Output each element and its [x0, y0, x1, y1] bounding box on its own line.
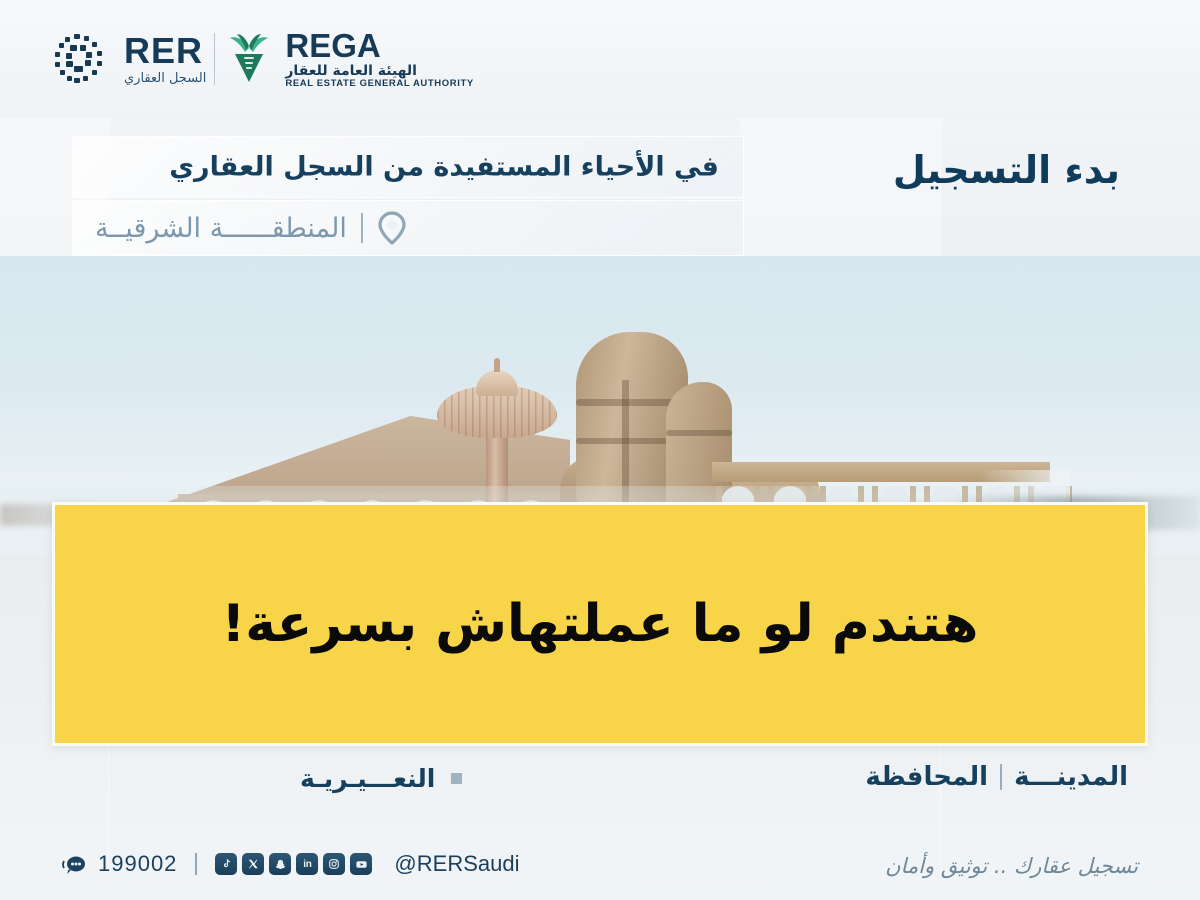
rer-logo: RER السجل العقاري — [52, 32, 206, 86]
rega-palm-logo-icon — [223, 32, 275, 86]
poster-canvas: RER السجل العقاري — [0, 0, 1200, 900]
location-labels: المدينـــة المحافظة — [865, 762, 1128, 792]
rega-logo: REGA الهيئة العامة للعقار REAL ESTATE GE… — [223, 29, 473, 89]
snapchat-icon[interactable] — [269, 853, 291, 875]
footer-tagline: تسجيل عقارك .. توثيق وأمان — [885, 854, 1138, 878]
location-row: المدينـــة المحافظة النعـــيـريـة — [0, 748, 1200, 820]
social-links: in — [215, 853, 372, 875]
rer-subtitle: السجل العقاري — [124, 72, 206, 85]
start-registration-label: بدء التسجيل — [893, 148, 1120, 192]
location-label-divider-icon — [1000, 764, 1002, 790]
call-center-chat-icon — [62, 855, 86, 873]
contact-phone[interactable]: 199002 — [98, 851, 177, 877]
brand-logo-bar: RER السجل العقاري — [0, 0, 1200, 118]
header-region-card: المنطقــــــة الشرقيــة — [72, 200, 744, 256]
page-title: في الأحياء المستفيدة من السجل العقاري — [169, 152, 719, 183]
promo-headline: هتندم لو ما عملتهاش بسرعة! — [222, 594, 979, 654]
square-bullet-icon — [451, 773, 462, 784]
youtube-icon[interactable] — [350, 853, 372, 875]
header-title-card: في الأحياء المستفيدة من السجل العقاري — [72, 136, 744, 198]
location-values: النعـــيـريـة — [300, 764, 462, 793]
region-divider-icon — [361, 213, 363, 243]
rer-word: RER — [124, 33, 203, 69]
tiktok-icon[interactable] — [215, 853, 237, 875]
x-twitter-icon[interactable] — [242, 853, 264, 875]
promo-banner: هتندم لو ما عملتهاش بسرعة! — [52, 502, 1148, 746]
label-governorate: المحافظة — [865, 762, 988, 792]
city-value: النعـــيـريـة — [300, 764, 435, 793]
rega-name-en: REAL ESTATE GENERAL AUTHORITY — [285, 79, 473, 89]
footer-divider-icon — [195, 853, 197, 875]
instagram-icon[interactable] — [323, 853, 345, 875]
rega-name-ar: الهيئة العامة للعقار — [285, 64, 417, 78]
ithra-band — [666, 430, 732, 436]
rer-pixel-circle-logo-icon — [52, 32, 106, 86]
rega-word: REGA — [285, 29, 380, 62]
linkedin-icon[interactable]: in — [296, 853, 318, 875]
location-pin-icon — [377, 211, 407, 245]
label-city: المدينـــة — [1014, 762, 1128, 792]
water-tower-tip — [494, 358, 500, 372]
social-handle[interactable]: @RERSaudi — [394, 851, 519, 877]
rega-wordmark: REGA الهيئة العامة للعقار REAL ESTATE GE… — [285, 29, 473, 89]
brand-divider-icon — [214, 33, 215, 85]
footer-contact: 199002 in @RERSaudi — [62, 851, 519, 877]
region-label: المنطقــــــة الشرقيــة — [95, 213, 347, 244]
rer-wordmark: RER السجل العقاري — [124, 33, 206, 85]
footer: 199002 in @RERSaudi — [0, 838, 1200, 900]
